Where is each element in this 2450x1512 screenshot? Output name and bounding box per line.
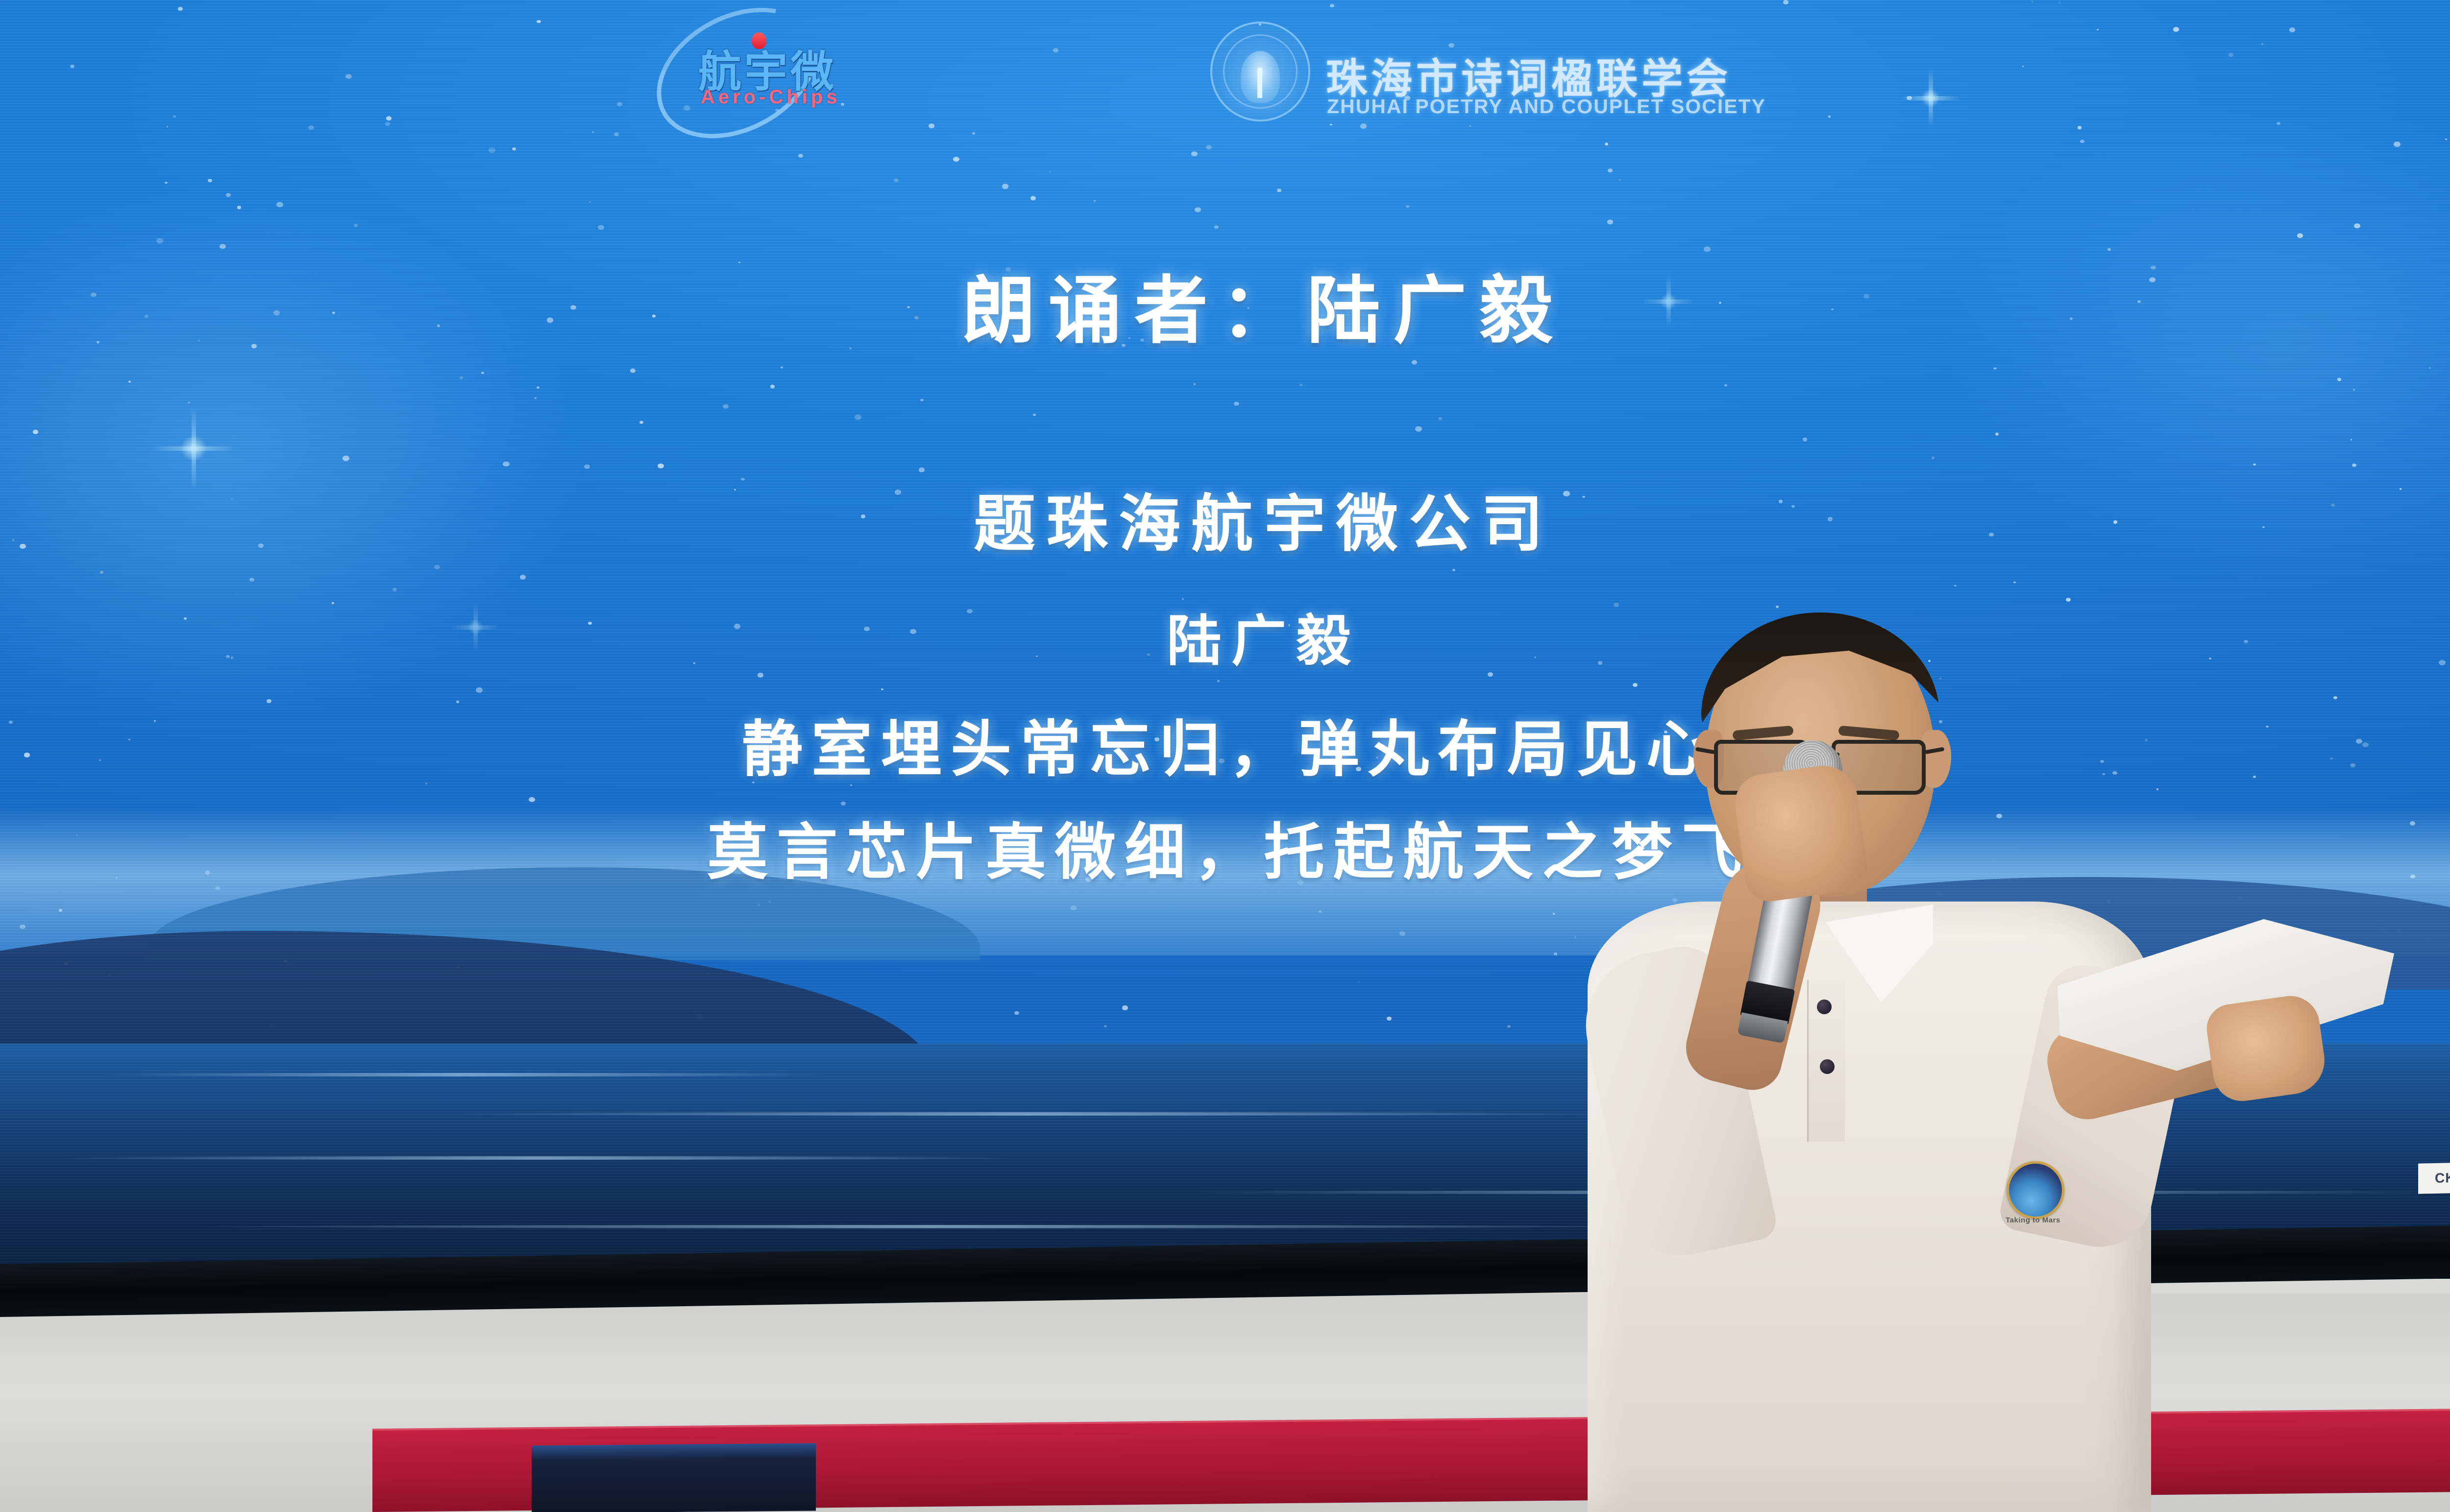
star-speck: [489, 147, 495, 153]
slide-title: 朗诵者：陆广毅: [0, 251, 2450, 358]
star-speck: [1932, 457, 1935, 459]
star-speck: [1415, 426, 1422, 432]
shirt-button: [1817, 1000, 1832, 1014]
star-speck: [1724, 384, 1727, 387]
hand-right: [1731, 761, 1870, 904]
star-speck: [723, 404, 728, 409]
star-speck: [639, 421, 643, 424]
star-speck: [1608, 169, 1613, 172]
wall-sign: CK: [2418, 1161, 2450, 1194]
star-speck: [1412, 360, 1417, 364]
star-speck: [855, 415, 861, 420]
star-speck: [1094, 200, 1096, 202]
star-speck: [100, 571, 103, 574]
star-speck: [1995, 433, 1999, 436]
screen-header-logos: 航宇微 Aero-Chips 珠海市诗词楹联学会 ZHUHAI POETRY A…: [0, 5, 2450, 132]
star-speck: [2354, 223, 2360, 228]
star-speck: [972, 132, 976, 135]
star-speck: [2337, 378, 2342, 381]
star-speck: [208, 179, 212, 182]
poetry-society-english: ZHUHAI POETRY AND COUPLET SOCIETY: [1327, 95, 1766, 118]
hand-left: [2204, 992, 2329, 1105]
star-speck: [2394, 142, 2400, 147]
star-speck: [537, 387, 539, 389]
star-speck: [1452, 569, 1455, 571]
star-speck: [1438, 417, 1442, 420]
star-speck: [476, 687, 483, 693]
star-speck: [658, 463, 664, 468]
star-speck: [1619, 179, 1620, 180]
star-speck: [584, 464, 590, 469]
zhuhai-poetry-society-logo: 珠海市诗词楹联学会 ZHUHAI POETRY AND COUPLET SOCI…: [1210, 8, 1764, 130]
star-speck: [630, 368, 636, 373]
star-speck: [598, 225, 604, 230]
star-speck: [237, 206, 241, 209]
star-speck: [2059, 2, 2060, 3]
star-speck: [1191, 151, 1198, 157]
star-speck: [920, 399, 923, 401]
red-flame-icon: [752, 32, 766, 49]
aero-chips-logo: 航宇微 Aero-Chips: [652, 12, 926, 124]
star-speck: [2013, 582, 2015, 584]
star-speck: [529, 797, 535, 802]
star-speck: [165, 182, 168, 184]
star-speck: [2032, 1, 2033, 2]
shirt-button: [1820, 1059, 1835, 1074]
star-speck: [1214, 225, 1219, 229]
star-speck: [2107, 248, 2111, 251]
star-speck: [881, 688, 883, 690]
wall-sign-label: CK: [2435, 1170, 2450, 1186]
star-speck: [1406, 205, 1409, 208]
star-speck: [2351, 439, 2352, 440]
star-speck: [1217, 680, 1220, 682]
star-speck: [1033, 414, 1036, 416]
star-speck: [188, 402, 190, 403]
star-speck: [1993, 367, 1996, 370]
star-speck: [894, 178, 899, 183]
star-speck: [1206, 145, 1211, 149]
star-speck: [1299, 384, 1302, 386]
shirt-logo-emblem-icon: [2007, 1161, 2064, 1219]
shirt-logo-label: Taking to Mars: [1999, 1216, 2067, 1224]
society-seal-icon: [1210, 22, 1310, 122]
screenshot-root: 航宇微 Aero-Chips 珠海市诗词楹联学会 ZHUHAI POETRY A…: [0, 0, 2450, 1512]
star-speck: [1195, 207, 1200, 212]
star-speck: [770, 385, 775, 389]
seal-emblem-icon: [1241, 51, 1280, 103]
star-speck: [2445, 139, 2447, 140]
star-speck: [1030, 196, 1036, 200]
star-speck: [589, 201, 591, 202]
star-speck: [2429, 367, 2431, 368]
star-speck: [1194, 383, 1196, 385]
star-speck: [226, 193, 230, 197]
speaker-figure: Taking to Mars: [1558, 608, 2391, 1512]
star-speck: [1277, 189, 1281, 192]
star-speck: [1803, 438, 1807, 441]
star-speck: [1049, 171, 1051, 172]
star-speck: [781, 366, 783, 368]
star-speck: [1002, 184, 1009, 189]
star-speck: [1783, 0, 1788, 4]
star-speck: [919, 467, 925, 472]
star-speck: [2253, 463, 2256, 466]
star-speck: [953, 157, 959, 162]
equipment-box: [532, 1443, 816, 1512]
star-speck: [1234, 402, 1239, 406]
poem-title: 题珠海航宇微公司: [0, 474, 2450, 563]
star-speck: [1607, 219, 1613, 224]
star-speck: [392, 588, 397, 591]
star-speck: [512, 147, 516, 151]
star-speck: [1605, 143, 1608, 146]
star-speck: [520, 575, 526, 580]
star-speck: [249, 578, 254, 582]
star-speck: [2353, 389, 2355, 390]
star-speck: [2080, 140, 2084, 143]
star-speck: [276, 202, 283, 207]
star-speck: [798, 154, 803, 158]
star-speck: [614, 132, 619, 136]
aero-chips-english: Aero-Chips: [701, 86, 841, 108]
shirt-logo: Taking to Mars: [2002, 1156, 2065, 1230]
